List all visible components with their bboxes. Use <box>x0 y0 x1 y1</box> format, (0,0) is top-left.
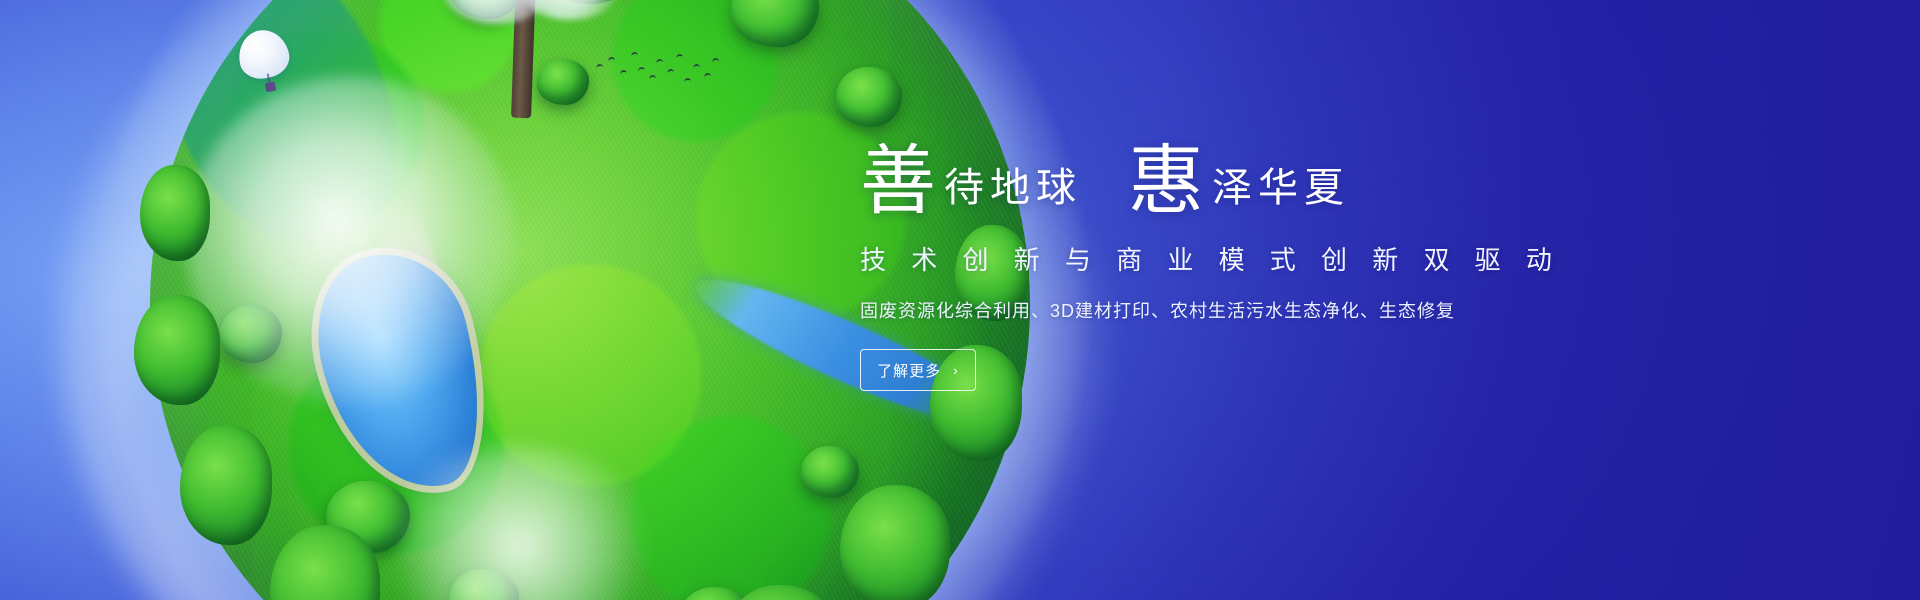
bird-icon <box>667 69 674 74</box>
headline-accent-char-one: 善 <box>860 146 936 218</box>
rim-tree <box>840 485 950 600</box>
bird-icon <box>620 70 627 75</box>
planet-tree-canopy <box>731 0 819 47</box>
bird-flock <box>594 48 724 94</box>
bird-icon <box>631 52 638 57</box>
headline-accent-char-two: 惠 <box>1128 146 1204 218</box>
headline-rest-two: 泽华夏 <box>1212 168 1350 208</box>
headline: 善 待地球 惠 泽华夏 <box>860 126 1560 218</box>
headline-rest-one: 待地球 <box>944 168 1082 208</box>
bird-icon <box>684 78 691 83</box>
planet-cloud-fog <box>185 76 515 406</box>
bird-icon <box>693 64 700 69</box>
hero-tree-blossom <box>522 0 618 20</box>
bird-icon <box>596 64 603 69</box>
rim-tree <box>140 165 210 261</box>
bird-icon <box>638 67 645 72</box>
balloon-envelope <box>234 25 293 82</box>
subheadline: 技 术 创 新 与 商 业 模 式 创 新 双 驱 动 <box>860 240 1560 277</box>
headline-group-two: 惠 泽华夏 <box>1128 146 1350 218</box>
planet-tree-canopy <box>801 446 859 498</box>
bird-icon <box>704 73 711 78</box>
planet-tree-canopy <box>836 67 902 127</box>
description-line: 固废资源化综合利用、3D建材打印、农村生活污水生态净化、生态修复 <box>860 297 1560 323</box>
bird-icon <box>649 75 656 80</box>
hero-banner: 善 待地球 惠 泽华夏 技 术 创 新 与 商 业 模 式 创 新 双 驱 动 … <box>0 0 1920 600</box>
headline-group-one: 善 待地球 <box>860 146 1082 218</box>
learn-more-label: 了解更多 <box>877 360 941 381</box>
rim-tree <box>180 425 272 545</box>
bird-icon <box>656 59 663 64</box>
bird-icon <box>676 54 683 59</box>
hero-copy: 善 待地球 惠 泽华夏 技 术 创 新 与 商 业 模 式 创 新 双 驱 动 … <box>860 126 1560 391</box>
rim-tree <box>134 295 220 405</box>
bird-icon <box>608 57 615 62</box>
bird-icon <box>712 58 719 63</box>
chevron-right-icon: › <box>953 363 959 377</box>
learn-more-button[interactable]: 了解更多 › <box>860 349 976 391</box>
